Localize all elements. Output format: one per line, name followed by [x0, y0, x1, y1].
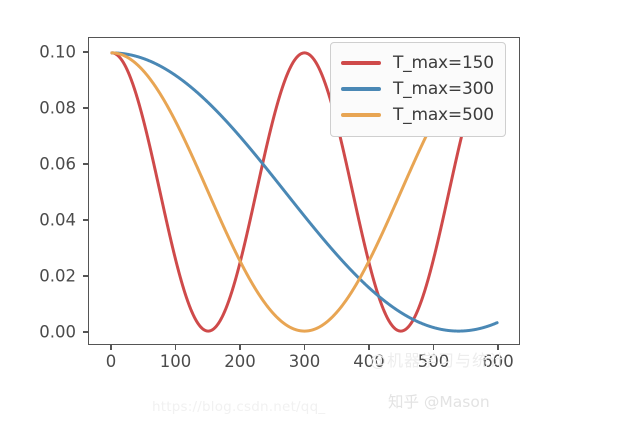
- watermark-center-text: @机器学习与统计: [370, 347, 506, 371]
- x-tick-mark: [175, 345, 177, 350]
- legend-label-1: T_max=150: [393, 53, 494, 73]
- chart-legend: T_max=150 T_max=300 T_max=500: [330, 42, 506, 137]
- x-tick-mark: [304, 345, 306, 350]
- y-tick-label: 0.02: [0, 267, 76, 286]
- legend-label-2: T_max=300: [393, 79, 494, 99]
- y-tick-mark: [83, 163, 88, 165]
- matplotlib-figure: 0.000.020.040.060.080.10 010020030040050…: [0, 0, 627, 432]
- x-tick-label: 100: [160, 352, 192, 371]
- legend-color-swatch-2: [341, 87, 381, 91]
- screenshot-root: 0.000.020.040.060.080.10 010020030040050…: [0, 0, 627, 432]
- y-tick-mark: [83, 275, 88, 277]
- y-tick-mark: [83, 219, 88, 221]
- y-tick-label: 0.06: [0, 155, 76, 174]
- y-tick-mark: [83, 331, 88, 333]
- y-tick-mark: [83, 107, 88, 109]
- legend-color-swatch-1: [341, 61, 381, 65]
- y-tick-label: 0.00: [0, 323, 76, 342]
- y-tick-mark: [83, 51, 88, 53]
- y-tick-label: 0.08: [0, 99, 76, 118]
- x-tick-label: 0: [106, 352, 117, 371]
- y-tick-label: 0.10: [0, 43, 76, 62]
- watermark-zhihu-author: 知乎 @Mason: [388, 390, 490, 412]
- legend-color-swatch-3: [341, 113, 381, 117]
- x-tick-mark: [239, 345, 241, 350]
- legend-label-3: T_max=500: [393, 105, 494, 125]
- legend-item: T_max=300: [341, 76, 494, 102]
- watermark-blog-url: https://blog.csdn.net/qq_: [152, 399, 325, 415]
- y-tick-label: 0.04: [0, 211, 76, 230]
- x-tick-mark: [110, 345, 112, 350]
- x-tick-label: 300: [289, 352, 321, 371]
- legend-item: T_max=150: [341, 50, 494, 76]
- x-tick-label: 200: [224, 352, 256, 371]
- legend-item: T_max=500: [341, 102, 494, 128]
